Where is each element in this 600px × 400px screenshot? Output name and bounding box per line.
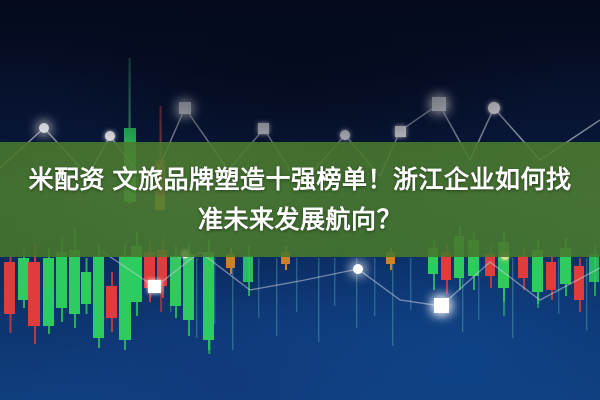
banner-image: 米配资 文旅品牌塑造十强榜单！浙江企业如何找 准未来发展航向？: [0, 0, 600, 400]
headline-line-1: 米配资 文旅品牌塑造十强榜单！浙江企业如何找: [0, 160, 600, 200]
headline: 米配资 文旅品牌塑造十强榜单！浙江企业如何找 准未来发展航向？: [0, 160, 600, 240]
headline-line-2: 准未来发展航向？: [0, 200, 600, 240]
